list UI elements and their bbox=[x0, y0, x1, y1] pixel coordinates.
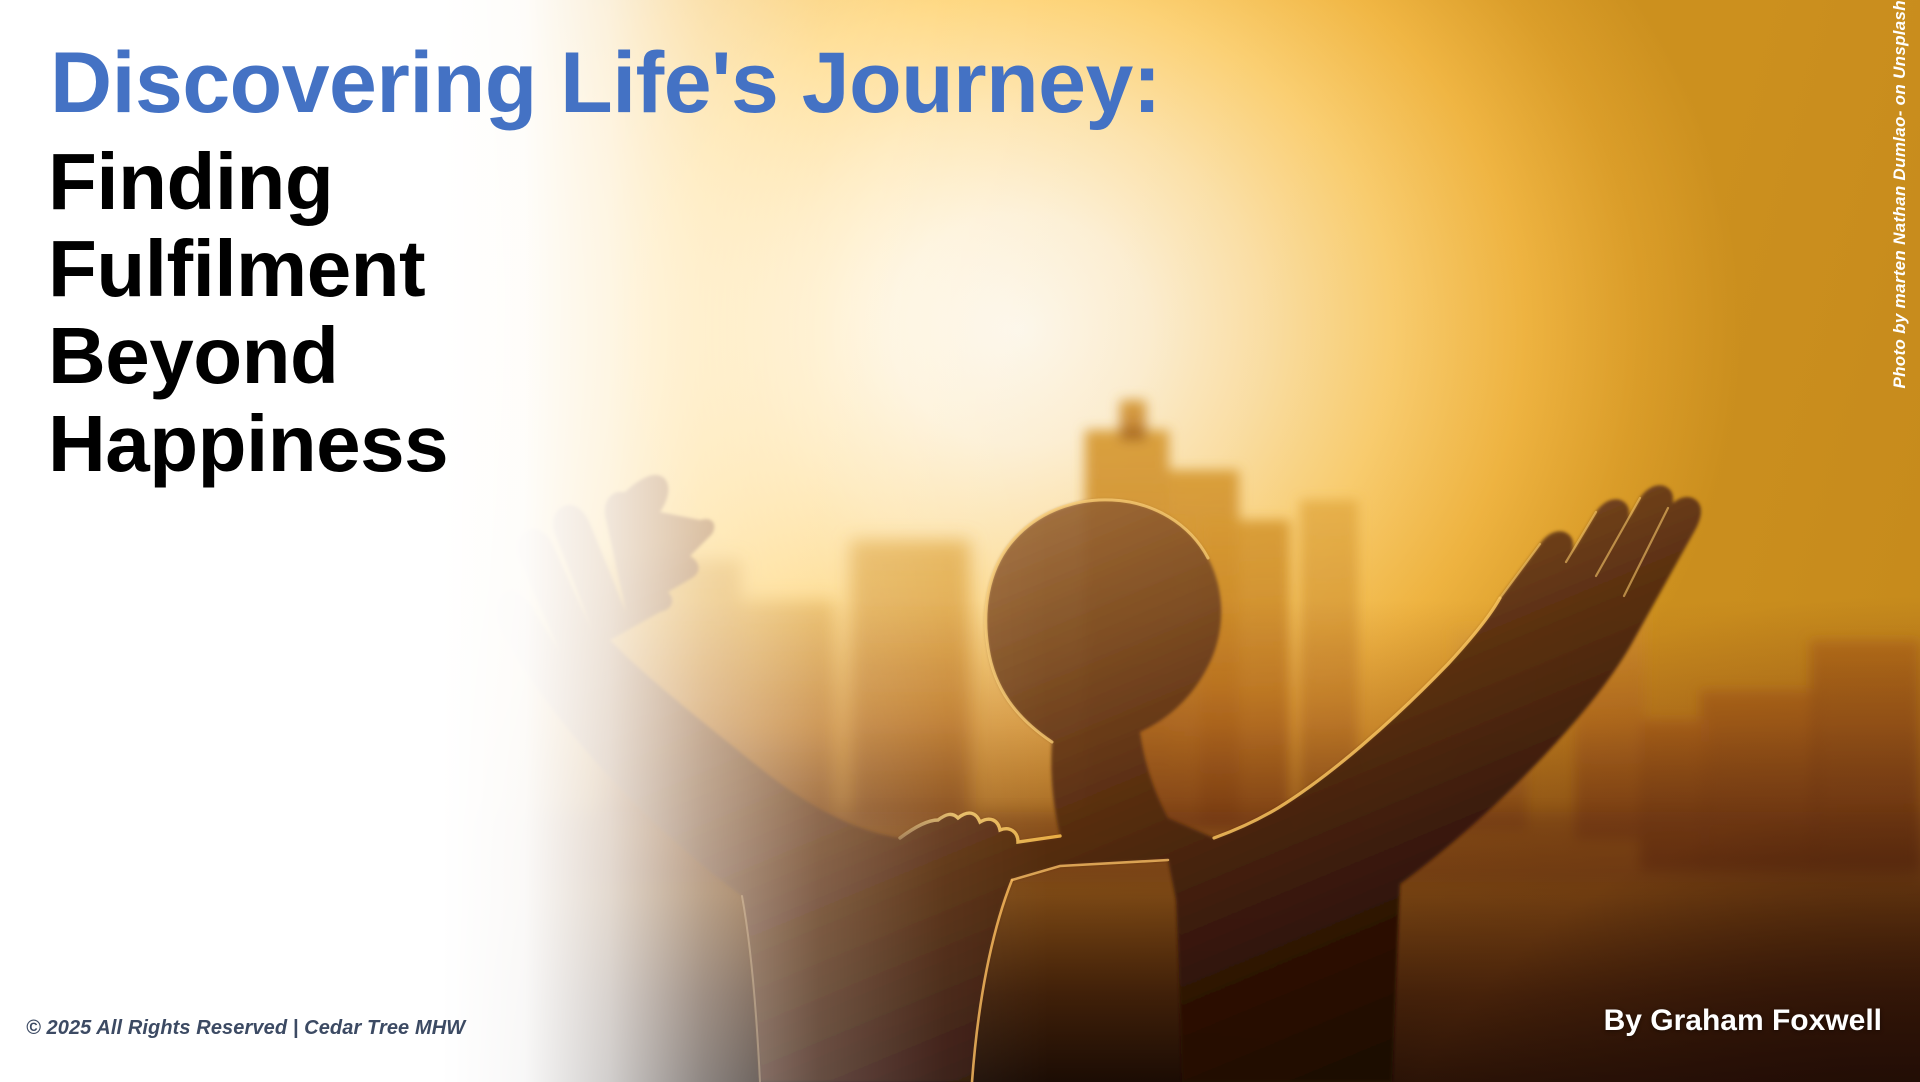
photo-credit-container: Photo by marten Nathan Dumlao- on Unspla… bbox=[1880, 0, 1920, 460]
author-byline: By Graham Foxwell bbox=[1604, 1004, 1882, 1038]
photo-credit: Photo by marten Nathan Dumlao- on Unspla… bbox=[1890, 0, 1910, 389]
copyright-notice: © 2025 All Rights Reserved | Cedar Tree … bbox=[26, 1017, 465, 1040]
page-subtitle: Finding Fulfilment Beyond Happiness bbox=[48, 138, 478, 487]
poster-canvas: Discovering Life's Journey: Finding Fulf… bbox=[0, 0, 1920, 1082]
page-title: Discovering Life's Journey: bbox=[50, 38, 1470, 129]
